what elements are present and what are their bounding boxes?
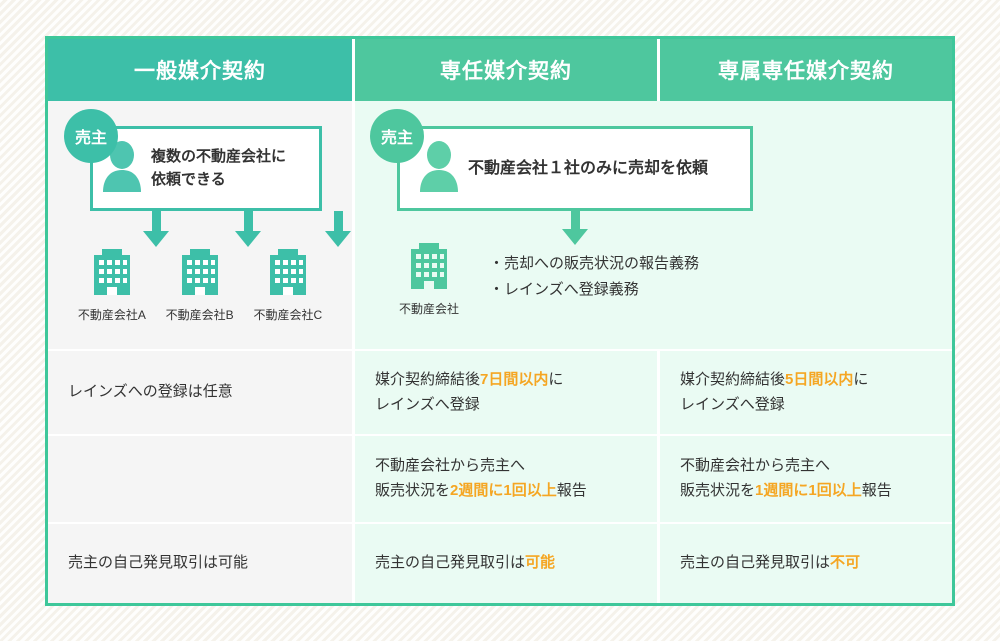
seller-info-line1: 複数の不動産会社に [151, 146, 286, 169]
company-and-duties: 不動産会社 ・売却への販売状況の報告義務 ・レインズへ登録義務 [379, 243, 699, 317]
text-line2: レインズへ登録 [680, 396, 785, 413]
cell-text: 不動産会社から売主へ 販売状況を1週間に1回以上報告 [680, 454, 892, 504]
cell-text: 売主の自己発見取引は可能 [68, 551, 248, 576]
table-header-row: 一般媒介契約 専任媒介契約 専属専任媒介契約 [48, 39, 952, 101]
seller-info-box: 複数の不動産会社に 依頼できる [90, 126, 322, 211]
arrow-down-icon [562, 229, 588, 245]
cell-reins-exclusive-right: 媒介契約締結後5日間以内に レインズへ登録 [657, 351, 952, 434]
building-icon [407, 243, 451, 294]
company-label: 不動産会社B [166, 306, 234, 323]
company-label: 不動産会社 [399, 300, 459, 317]
seller-info-text: 複数の不動産会社に 依頼できる [151, 146, 286, 191]
cell-text: レインズへの登録は任意 [68, 380, 233, 405]
seller-info-text: 不動産会社１社のみに売却を依頼 [468, 157, 708, 181]
company-item: 不動産会社B [166, 249, 234, 323]
cell-report-exclusive-right: 不動産会社から売主へ 販売状況を1週間に1回以上報告 [657, 436, 952, 522]
text-line1: 不動産会社から売主へ [680, 457, 830, 474]
building-icon [90, 249, 134, 300]
text-highlight: 不可 [830, 554, 860, 571]
duties-list: ・売却への販売状況の報告義務 ・レインズへ登録義務 [489, 251, 699, 304]
company-item: 不動産会社 [379, 243, 479, 317]
header-cell-general: 一般媒介契約 [48, 39, 352, 101]
person-icon [418, 140, 460, 197]
text-plain: 売主の自己発見取引は [680, 554, 830, 571]
text-highlight: 2週間に1回以上 [450, 482, 557, 499]
text-highlight: 1週間に1回以上 [755, 482, 862, 499]
cell-self-exclusive: 売主の自己発見取引は可能 [352, 524, 657, 603]
cell-text: 不動産会社から売主へ 販売状況を2週間に1回以上報告 [375, 454, 587, 504]
table-diagram-row: 売主 複数の不動産会社に 依頼できる [48, 101, 952, 349]
cell-report-exclusive: 不動産会社から売主へ 販売状況を2週間に1回以上報告 [352, 436, 657, 522]
table-row: 不動産会社から売主へ 販売状況を2週間に1回以上報告 不動産会社から売主へ 販売… [48, 434, 952, 522]
cell-text: 媒介契約締結後5日間以内に レインズへ登録 [680, 368, 868, 418]
cell-self-exclusive-right: 売主の自己発見取引は不可 [657, 524, 952, 603]
text-plain: 販売状況を [375, 482, 450, 499]
cell-reins-exclusive: 媒介契約締結後7日間以内に レインズへ登録 [352, 351, 657, 434]
cell-text: 売主の自己発見取引は可能 [375, 551, 555, 576]
company-label: 不動産会社A [78, 306, 146, 323]
company-item: 不動産会社A [78, 249, 146, 323]
text-plain: 売主の自己発見取引は [375, 554, 525, 571]
text-highlight: 7日間以内 [480, 371, 548, 388]
header-cell-exclusive-right: 専属専任媒介契約 [657, 39, 952, 101]
text-highlight: 可能 [525, 554, 555, 571]
arrow-down-icon-a [143, 231, 169, 247]
table-row: 売主の自己発見取引は可能 売主の自己発見取引は可能 売主の自己発見取引は不可 [48, 522, 952, 603]
table-row: レインズへの登録は任意 媒介契約締結後7日間以内に レインズへ登録 媒介契約締結… [48, 349, 952, 434]
text-plain: 販売状況を [680, 482, 755, 499]
cell-report-general [48, 436, 352, 522]
text-plain: に [853, 371, 868, 388]
comparison-table: 一般媒介契約 専任媒介契約 専属専任媒介契約 売主 複数の不動産会社に 依頼でき… [45, 36, 955, 606]
seller-info-box: 不動産会社１社のみに売却を依頼 [397, 126, 753, 211]
text-plain: 媒介契約締結後 [680, 371, 785, 388]
text-plain: 媒介契約締結後 [375, 371, 480, 388]
text-plain: に [548, 371, 563, 388]
diagram-general: 売主 複数の不動産会社に 依頼できる [48, 101, 352, 349]
text-line2: レインズへ登録 [375, 396, 480, 413]
duty-item: ・レインズへ登録義務 [489, 277, 699, 303]
header-cell-exclusive: 専任媒介契約 [352, 39, 657, 101]
building-icon [266, 249, 310, 300]
connector-stem-b [244, 211, 253, 233]
duty-item: ・売却への販売状況の報告義務 [489, 251, 699, 277]
company-list-general: 不動産会社A [48, 249, 352, 323]
connector-stem [571, 211, 580, 231]
cell-reins-general: レインズへの登録は任意 [48, 351, 352, 434]
seller-badge: 売主 [370, 109, 424, 163]
company-item: 不動産会社C [253, 249, 322, 323]
connector-stem-a [152, 211, 161, 233]
seller-info-line2: 依頼できる [151, 169, 286, 192]
cell-text: 媒介契約締結後7日間以内に レインズへ登録 [375, 368, 563, 418]
connector-stem-c [334, 211, 343, 233]
seller-badge: 売主 [64, 109, 118, 163]
arrow-down-icon-c [325, 231, 351, 247]
text-highlight: 5日間以内 [785, 371, 853, 388]
cell-self-general: 売主の自己発見取引は可能 [48, 524, 352, 603]
company-label: 不動産会社C [253, 306, 322, 323]
text-plain: 報告 [557, 482, 587, 499]
text-plain: 報告 [862, 482, 892, 499]
building-icon [178, 249, 222, 300]
diagram-exclusive: 売主 不動産会社１社のみに売却を依頼 [352, 101, 952, 349]
text-line1: 不動産会社から売主へ [375, 457, 525, 474]
arrow-down-icon-b [235, 231, 261, 247]
cell-text: 売主の自己発見取引は不可 [680, 551, 860, 576]
